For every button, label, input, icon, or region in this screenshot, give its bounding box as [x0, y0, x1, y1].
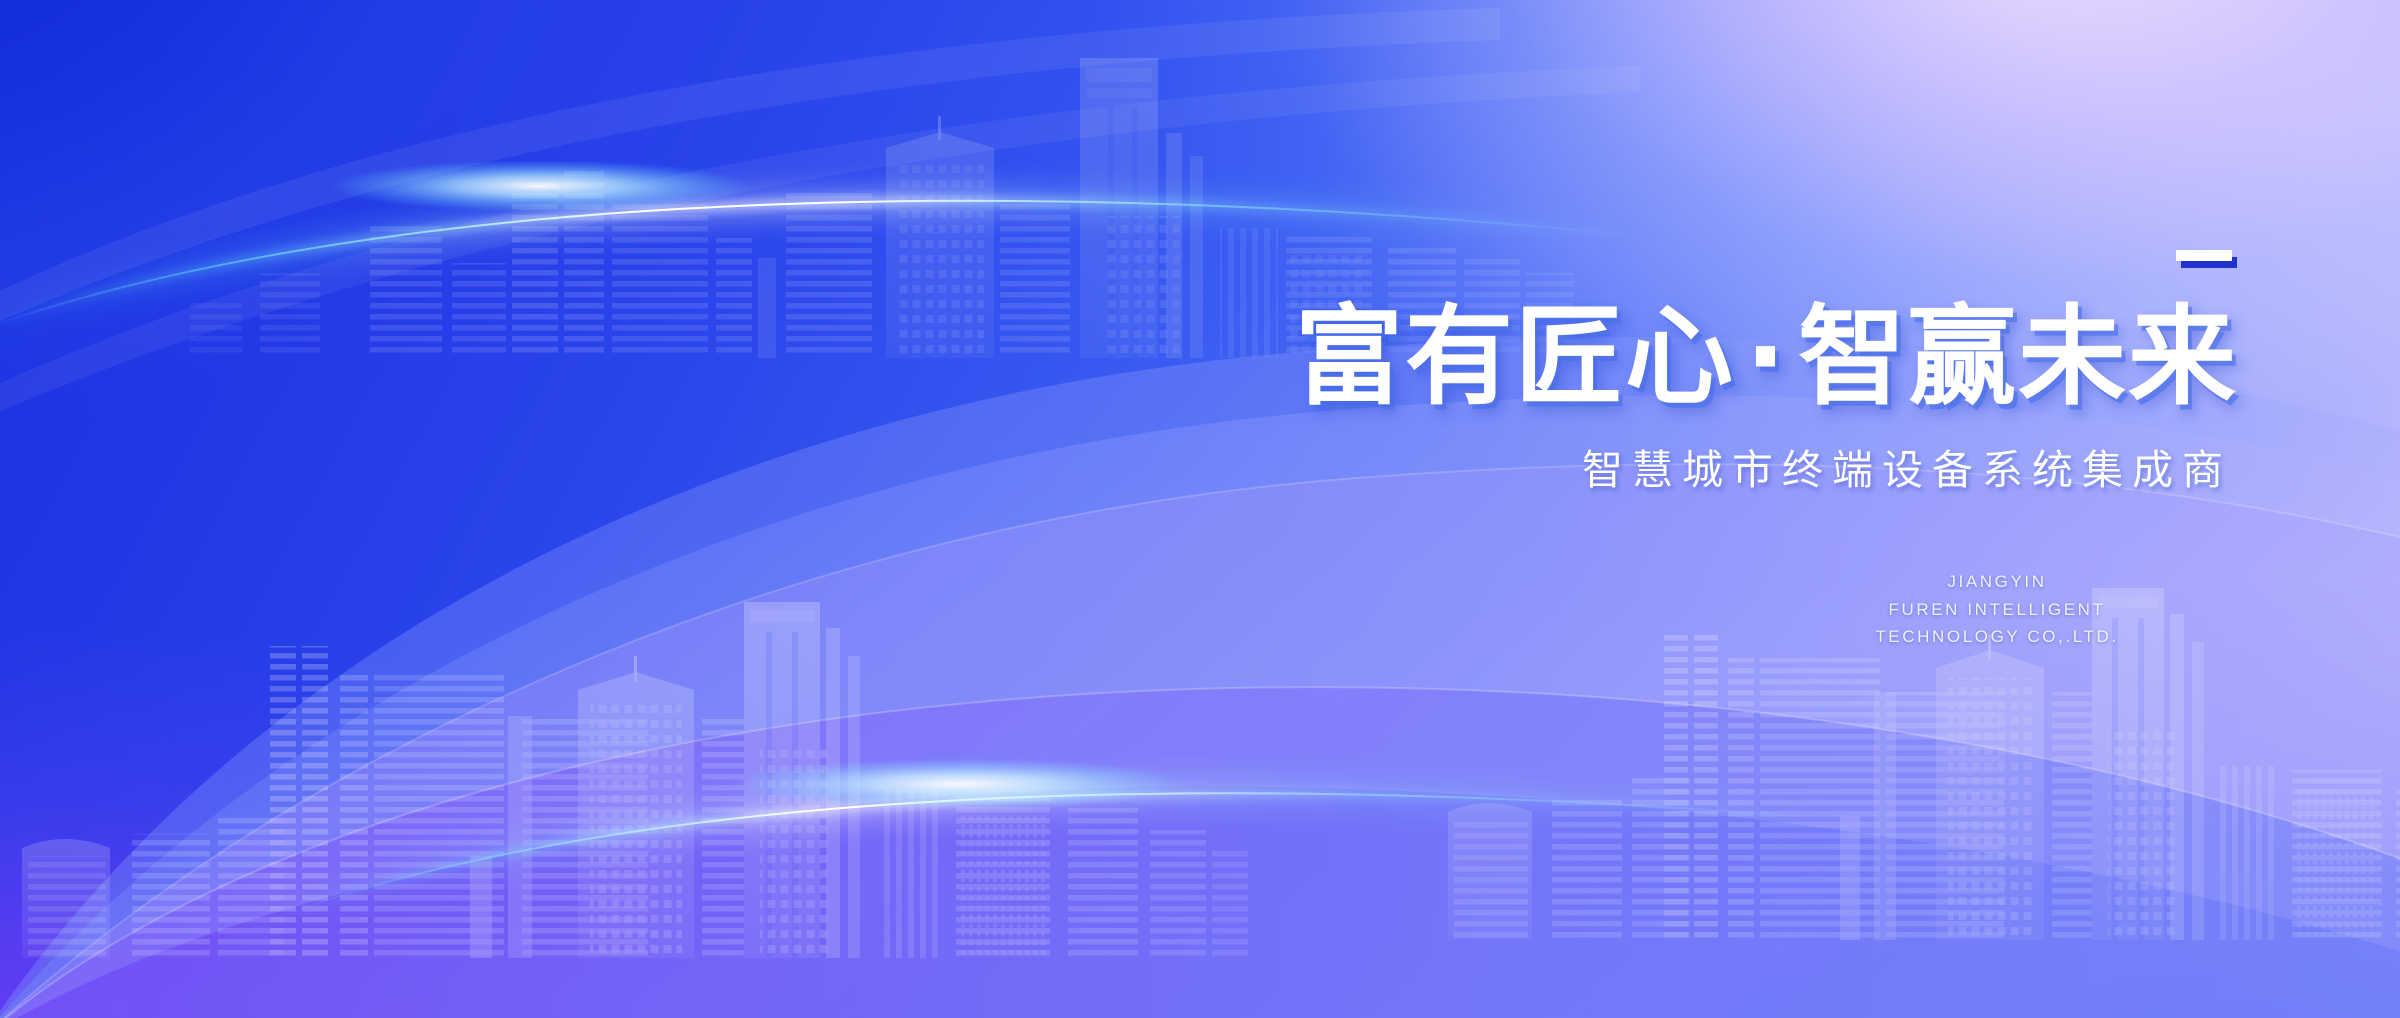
company-name-block: JIANGYIN FUREN INTELLIGENT TECHNOLOGY CO… [1020, 568, 2234, 651]
page-subtitle: 智慧城市终端设备系统集成商 [1020, 436, 2232, 496]
company-line-1: JIANGYIN [1760, 568, 2234, 596]
company-line-2: FUREN INTELLIGENT [1760, 596, 2234, 624]
headline-part-2: 智赢未来 [1798, 295, 2238, 420]
page-title: 富有匠心·智赢未来 [1020, 302, 2238, 414]
company-line-3: TECHNOLOGY CO,.LTD. [1760, 623, 2234, 651]
headline-part-1: 富有匠心 [1295, 295, 1735, 420]
glow-arc-lower [260, 700, 2400, 930]
accent-dash-mark [2176, 250, 2232, 261]
marketing-banner: 富有匠心·智赢未来 智慧城市终端设备系统集成商 JIANGYIN FUREN I… [0, 0, 2400, 1018]
banner-text-block: 富有匠心·智赢未来 智慧城市终端设备系统集成商 JIANGYIN FUREN I… [1020, 250, 2250, 651]
headline-separator: · [1735, 295, 1798, 420]
